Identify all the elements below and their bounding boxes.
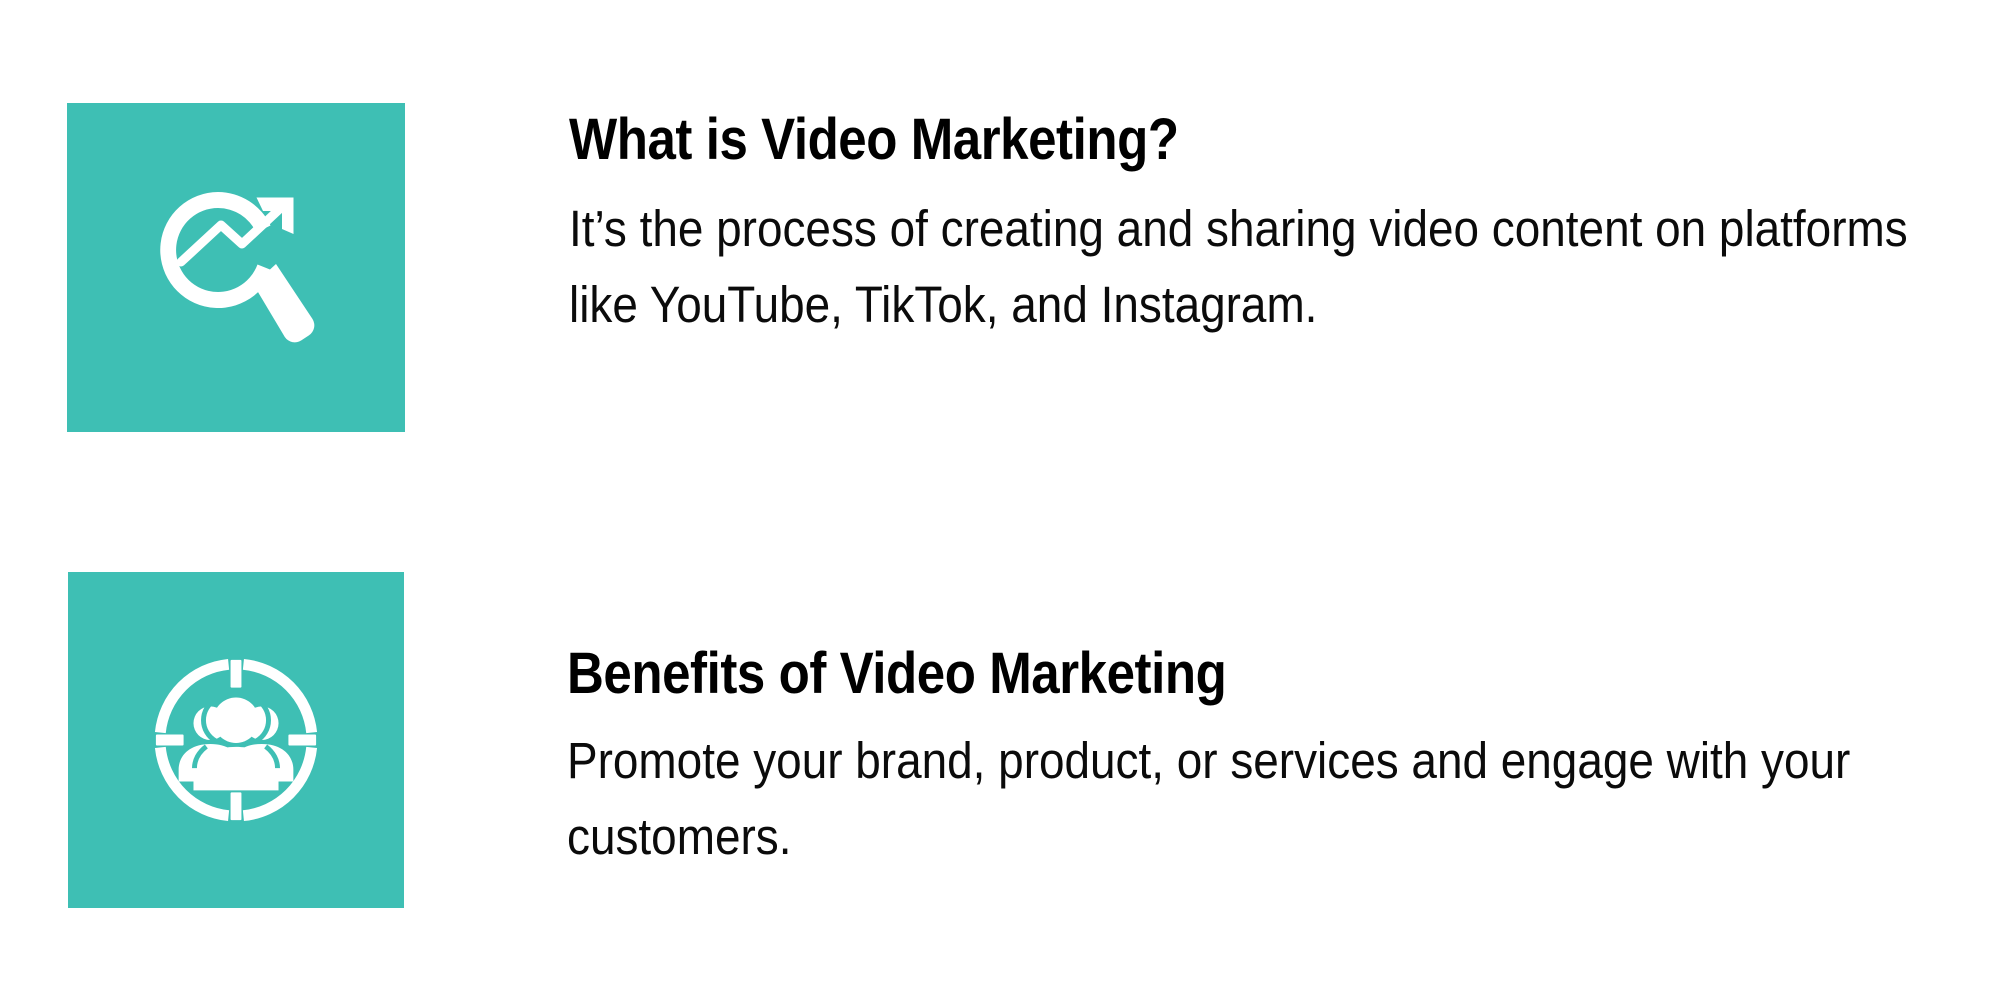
- slide-canvas: What is Video Marketing? It’s the proces…: [0, 0, 2000, 1000]
- info-card-what-is-video-marketing: What is Video Marketing? It’s the proces…: [67, 103, 1947, 432]
- icon-tile-magnifier: [67, 103, 405, 432]
- card-text-block-one: What is Video Marketing? It’s the proces…: [405, 103, 1947, 343]
- card-text-block-two: Benefits of Video Marketing Promote your…: [404, 572, 1948, 875]
- card-body-what-is-video-marketing: It’s the process of creating and sharing…: [569, 191, 1946, 343]
- icon-tile-target-audience: [68, 572, 404, 908]
- card-body-benefits-of-video-marketing: Promote your brand, product, or services…: [567, 723, 1947, 875]
- target-audience-people-icon: [147, 651, 325, 829]
- page-title-benefits-of-video-marketing: Benefits of Video Marketing: [567, 645, 1782, 703]
- page-title-what-is-video-marketing: What is Video Marketing?: [569, 111, 1782, 169]
- magnifier-growth-chart-icon: [146, 178, 326, 358]
- info-card-benefits-of-video-marketing: Benefits of Video Marketing Promote your…: [68, 572, 1948, 908]
